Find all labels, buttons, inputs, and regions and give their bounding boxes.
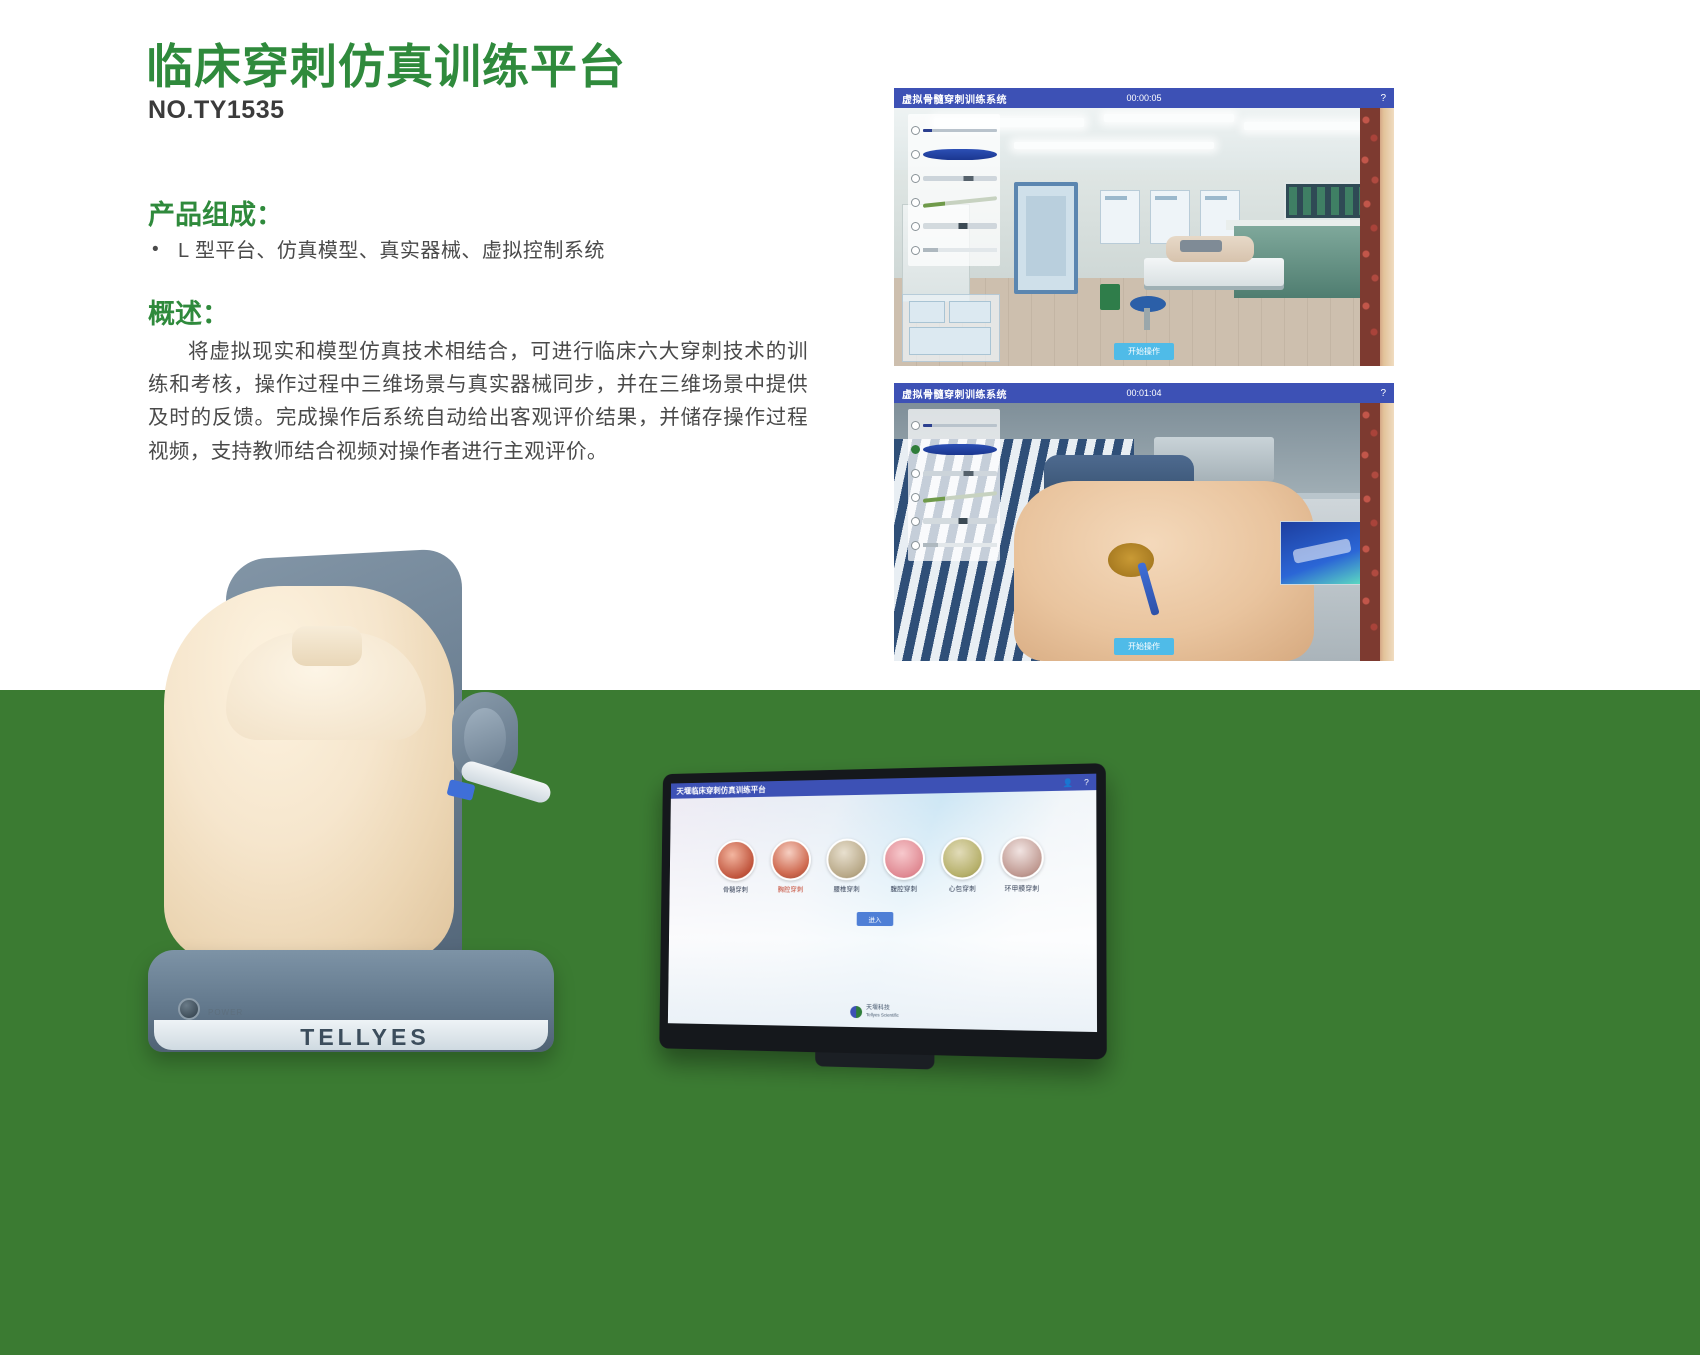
- ceiling-light: [1244, 122, 1364, 130]
- virtual-room-scene: 开始操作: [894, 108, 1394, 366]
- screenshot-top-titlebar: 虚拟骨髓穿刺训练系统 00:00:05 ?: [894, 88, 1394, 108]
- help-icon[interactable]: ?: [1380, 388, 1386, 399]
- screenshot-top-timer: 00:00:05: [894, 93, 1394, 103]
- logo-mark-icon: [850, 1006, 862, 1018]
- company-logo: 天堰科技 Tellyes Scientific: [850, 1005, 899, 1020]
- supply-pack: [909, 301, 945, 323]
- tool-option-syringe[interactable]: [911, 461, 997, 485]
- tool-option-trocar[interactable]: [911, 214, 997, 238]
- supply-shelf: [902, 294, 1000, 362]
- overview-paragraph: 将虚拟现实和模型仿真技术相结合，可进行临床六大穿刺技术的训练和考核，操作过程中三…: [148, 335, 808, 468]
- spine-icon[interactable]: [826, 838, 867, 880]
- operator-stool: [1130, 296, 1166, 312]
- virtual-patient: [1166, 236, 1254, 262]
- model-number: NO.TY1535: [148, 96, 285, 125]
- screenshot-bottom-timer: 00:01:04: [894, 388, 1394, 398]
- instrument-tray-panel[interactable]: [908, 409, 1000, 561]
- manikin-neck-plate: [292, 626, 362, 666]
- start-operation-button[interactable]: 开始操作: [1114, 343, 1174, 360]
- procedure-label: 心包穿刺: [940, 883, 985, 893]
- product-photo-platform: POWER TELLYES: [130, 520, 600, 1080]
- bullet-icon: •: [152, 238, 178, 263]
- list-item: • L 型平台、仿真模型、真实器械、虚拟控制系统: [152, 238, 852, 265]
- radio-icon[interactable]: [911, 493, 920, 502]
- procedure-label: 腰椎穿刺: [825, 883, 868, 893]
- trash-bin: [1100, 284, 1120, 310]
- scalpel-icon: [923, 244, 997, 256]
- cricothyroid-icon[interactable]: [1000, 836, 1044, 879]
- tool-option-syringe[interactable]: [911, 166, 997, 190]
- forceps-icon: [923, 491, 997, 503]
- tool-option-forceps[interactable]: [911, 485, 997, 509]
- supply-pack: [909, 327, 991, 355]
- radio-icon[interactable]: [911, 126, 920, 135]
- thorax-icon[interactable]: [771, 839, 812, 881]
- radio-icon[interactable]: [911, 469, 920, 478]
- procedure-bone-marrow[interactable]: 骨髓穿刺: [715, 840, 757, 894]
- start-operation-button[interactable]: 开始操作: [1114, 638, 1174, 655]
- patient-back: [1014, 481, 1314, 661]
- instrument-detail-inset: [1280, 521, 1368, 585]
- radio-icon[interactable]: [911, 174, 920, 183]
- procedure-lumbar-puncture[interactable]: 腰椎穿刺: [825, 838, 868, 893]
- page-title: 临床穿刺仿真训练平台: [146, 28, 626, 97]
- logo-text-cn: 天堰科技: [866, 1005, 890, 1011]
- room-door: [1014, 182, 1078, 294]
- procedure-label: 胸腔穿刺: [770, 883, 812, 893]
- tool-option-drape[interactable]: [911, 142, 997, 166]
- drape-icon: [923, 443, 997, 455]
- supply-pack: [949, 301, 991, 323]
- abdomen-icon[interactable]: [883, 838, 925, 880]
- radio-icon[interactable]: [911, 150, 920, 159]
- forceps-icon: [923, 196, 997, 208]
- puncture-closeup-scene: 开始操作: [894, 403, 1394, 661]
- composition-list: • L 型平台、仿真模型、真实器械、虚拟控制系统: [152, 238, 852, 265]
- tool-option-scalpel[interactable]: [911, 238, 997, 262]
- power-knob-icon[interactable]: [178, 998, 200, 1020]
- brand-logo-text: TELLYES: [130, 1024, 600, 1051]
- radio-icon[interactable]: [911, 541, 920, 550]
- section-heading-composition: 产品组成：: [148, 193, 283, 232]
- scalpel-icon: [923, 539, 997, 551]
- procedure-label: 骨髓穿刺: [715, 884, 756, 894]
- procedure-label: 环甲膜穿刺: [999, 882, 1045, 892]
- procedure-thoracentesis[interactable]: 胸腔穿刺: [770, 839, 813, 893]
- tool-option-drape[interactable]: [911, 437, 997, 461]
- logo-text-en: Tellyes Scientific: [866, 1012, 899, 1018]
- tissue-layer-reference: [1360, 108, 1394, 366]
- monitor-screen: 天堰临床穿刺仿真训练平台 👤 ? 骨髓穿刺 胸腔穿刺 腰椎穿: [668, 774, 1097, 1032]
- screenshot-bottom-titlebar: 虚拟骨髓穿刺训练系统 00:01:04 ?: [894, 383, 1394, 403]
- procedure-abdominal-puncture[interactable]: 腹腔穿刺: [882, 838, 926, 893]
- needle-icon: [923, 124, 997, 136]
- trocar-icon: [923, 515, 997, 527]
- section-heading-overview: 概述：: [148, 292, 229, 331]
- screenshot-bottom-canvas: 开始操作: [894, 403, 1394, 661]
- radio-icon[interactable]: [911, 198, 920, 207]
- power-label: POWER: [208, 1008, 243, 1017]
- radio-icon-selected[interactable]: [911, 445, 920, 454]
- tool-option-scalpel[interactable]: [911, 533, 997, 557]
- help-icon[interactable]: ?: [1084, 777, 1089, 786]
- logo-text: 天堰科技 Tellyes Scientific: [866, 1005, 899, 1019]
- exam-bed: [1144, 258, 1284, 286]
- screenshot-bone-marrow-closeup-view: 虚拟骨髓穿刺训练系统 00:01:04 ?: [894, 383, 1394, 661]
- procedure-cricothyrotomy[interactable]: 环甲膜穿刺: [999, 836, 1045, 893]
- simulation-manikin-torso: [164, 586, 454, 962]
- ceiling-light: [1014, 142, 1214, 149]
- pericardium-icon[interactable]: [941, 837, 984, 880]
- touchscreen-monitor: 天堰临床穿刺仿真训练平台 👤 ? 骨髓穿刺 胸腔穿刺 腰椎穿: [659, 763, 1107, 1059]
- drape-icon: [923, 148, 997, 160]
- procedure-label: 腹腔穿刺: [882, 883, 926, 893]
- tablet-home-screen: 骨髓穿刺 胸腔穿刺 腰椎穿刺 腹腔穿刺: [668, 790, 1097, 1032]
- user-icon[interactable]: 👤: [1063, 778, 1073, 787]
- ceiling-light: [1104, 114, 1234, 122]
- tool-option-needle[interactable]: [911, 413, 997, 437]
- bone-marrow-icon[interactable]: [716, 840, 756, 881]
- screenshot-top-canvas: 开始操作: [894, 108, 1394, 366]
- wall-monitor: [1284, 182, 1370, 220]
- radio-icon[interactable]: [911, 517, 920, 526]
- help-icon[interactable]: ?: [1380, 93, 1386, 104]
- tool-option-needle[interactable]: [911, 118, 997, 142]
- wall-poster: [1100, 190, 1140, 244]
- trocar-icon: [923, 220, 997, 232]
- procedure-selection-grid: 骨髓穿刺 胸腔穿刺 腰椎穿刺 腹腔穿刺: [670, 835, 1097, 893]
- radio-icon[interactable]: [911, 421, 920, 430]
- radio-icon[interactable]: [911, 246, 920, 255]
- tool-option-forceps[interactable]: [911, 190, 997, 214]
- composition-item-text: L 型平台、仿真模型、真实器械、虚拟控制系统: [178, 238, 605, 265]
- enter-button[interactable]: 进入: [857, 912, 894, 926]
- monitor-bezel: 天堰临床穿刺仿真训练平台 👤 ? 骨髓穿刺 胸腔穿刺 腰椎穿: [659, 763, 1107, 1059]
- needle-icon: [923, 419, 997, 431]
- radio-icon[interactable]: [911, 222, 920, 231]
- instrument-tray-panel[interactable]: [908, 114, 1000, 266]
- procedure-pericardiocentesis[interactable]: 心包穿刺: [940, 837, 985, 893]
- syringe-icon: [923, 172, 997, 184]
- tablet-app-title: 天堰临床穿刺仿真训练平台: [676, 784, 765, 797]
- tissue-layer-reference: [1360, 403, 1394, 661]
- tool-option-trocar[interactable]: [911, 509, 997, 533]
- syringe-icon: [923, 467, 997, 479]
- screenshot-bone-marrow-room-view: 虚拟骨髓穿刺训练系统 00:00:05 ?: [894, 88, 1394, 366]
